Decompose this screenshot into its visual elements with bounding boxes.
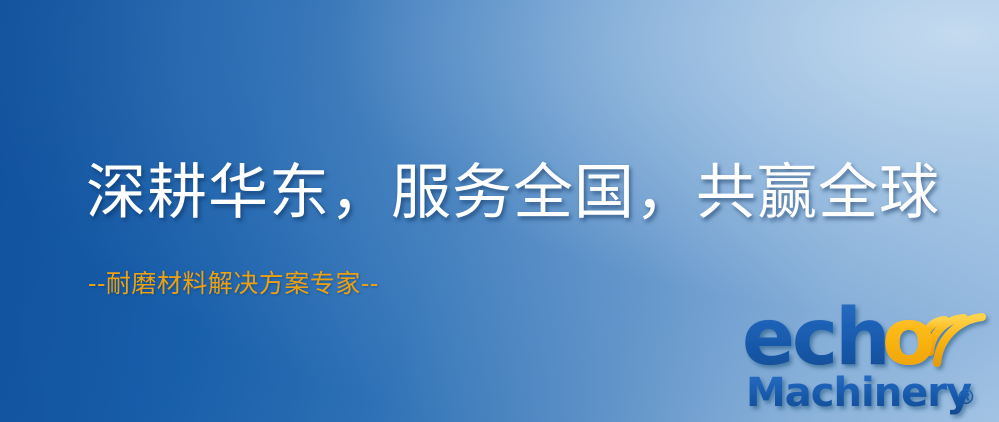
subtitle-text: --耐磨材料解决方案专家-- bbox=[88, 268, 379, 300]
logo-registered-mark: ® bbox=[956, 385, 976, 409]
headline-text: 深耕华东，服务全国，共赢全球 bbox=[86, 158, 940, 228]
wifi-arcs-icon bbox=[924, 317, 982, 363]
logo-brand-secondary: Machinery bbox=[746, 370, 972, 416]
promo-banner: 深耕华东，服务全国，共赢全球 --耐磨材料解决方案专家-- bbox=[0, 0, 999, 422]
echo-machinery-logo: ech o Machinery ® bbox=[742, 292, 994, 418]
